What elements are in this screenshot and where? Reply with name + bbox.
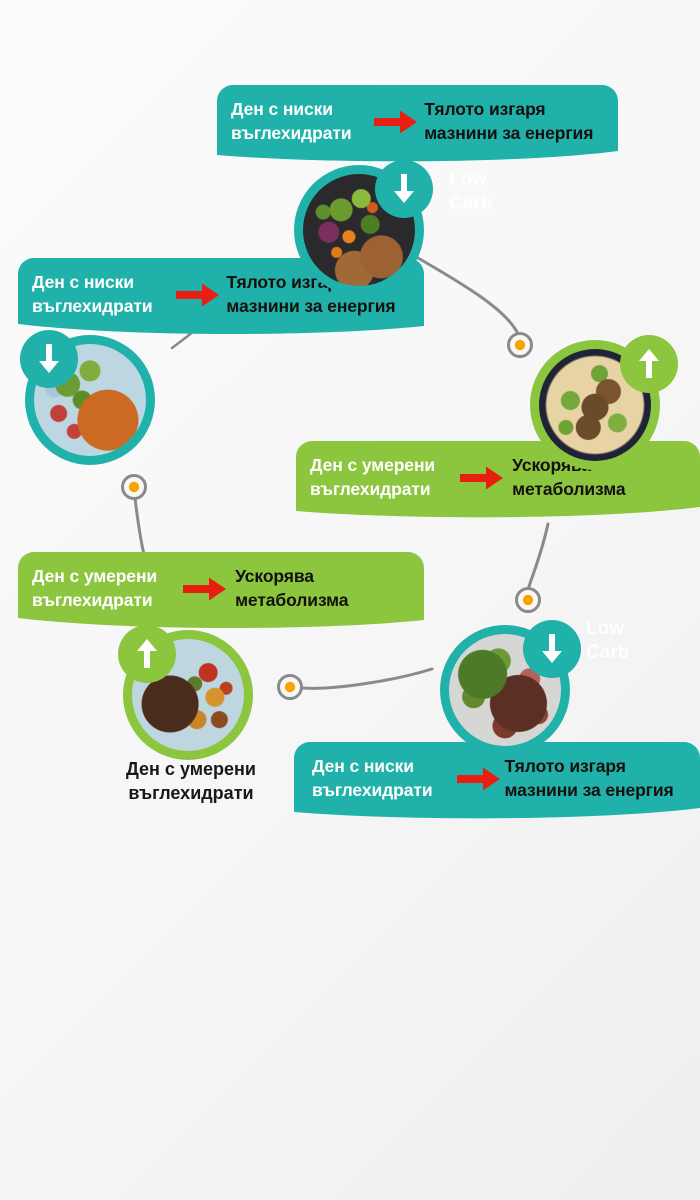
watermark-low-carb-2: Low Carb (586, 617, 629, 665)
food-node-5[interactable] (436, 620, 581, 740)
node-1-badge (375, 160, 433, 218)
right-arrow-icon (176, 282, 220, 308)
card-5-right-label: Тялото изгаря мазнини за енергия (505, 755, 692, 802)
connector-dot-3 (279, 676, 302, 699)
right-arrow-icon (374, 109, 418, 135)
node-2-badge (20, 330, 78, 388)
node-4-caption: Ден с умерени въглехидрати (105, 757, 277, 806)
card-5-left-label: Ден с ниски въглехидрати (312, 755, 457, 802)
right-arrow-icon (460, 465, 504, 491)
infographic-canvas: Low Carb Low Carb Ден с ниски въглехидра… (0, 0, 700, 1200)
card-2-left-label: Ден с ниски въглехидрати (32, 271, 176, 318)
card-1-right-label: Тялото изгаря мазнини за енергия (424, 98, 608, 145)
node-5-badge (523, 620, 581, 678)
food-node-2[interactable] (20, 330, 160, 450)
banner-card-1[interactable]: Ден с ниски въглехидрати Тялото изгаря м… (217, 85, 618, 164)
arrow-down-icon (537, 632, 567, 666)
card-4-left-label: Ден с умерени въглехидрати (32, 565, 183, 612)
arrow-down-icon (34, 342, 64, 376)
arrow-up-icon (132, 637, 162, 671)
food-node-1[interactable] (290, 160, 435, 280)
watermark-low-carb-1: Low Carb (449, 168, 492, 216)
food-node-3[interactable] (528, 335, 678, 455)
connector-path-2 (528, 524, 548, 590)
node-4-badge (118, 625, 176, 683)
food-node-4[interactable] (118, 625, 263, 745)
node-3-badge (620, 335, 678, 393)
card-4-right-label: Ускорява метаболизма (235, 565, 414, 612)
connector-path-3 (303, 669, 432, 688)
right-arrow-icon (183, 576, 227, 602)
banner-card-4[interactable]: Ден с умерени въглехидрати Ускорява мета… (18, 552, 424, 631)
connector-dot-4 (123, 476, 146, 499)
connector-dot-2 (517, 589, 540, 612)
right-arrow-icon (457, 766, 501, 792)
arrow-down-icon (389, 172, 419, 206)
arrow-up-icon (634, 347, 664, 381)
card-1-left-label: Ден с ниски въглехидрати (231, 98, 374, 145)
card-3-left-label: Ден с умерени въглехидрати (310, 454, 460, 501)
